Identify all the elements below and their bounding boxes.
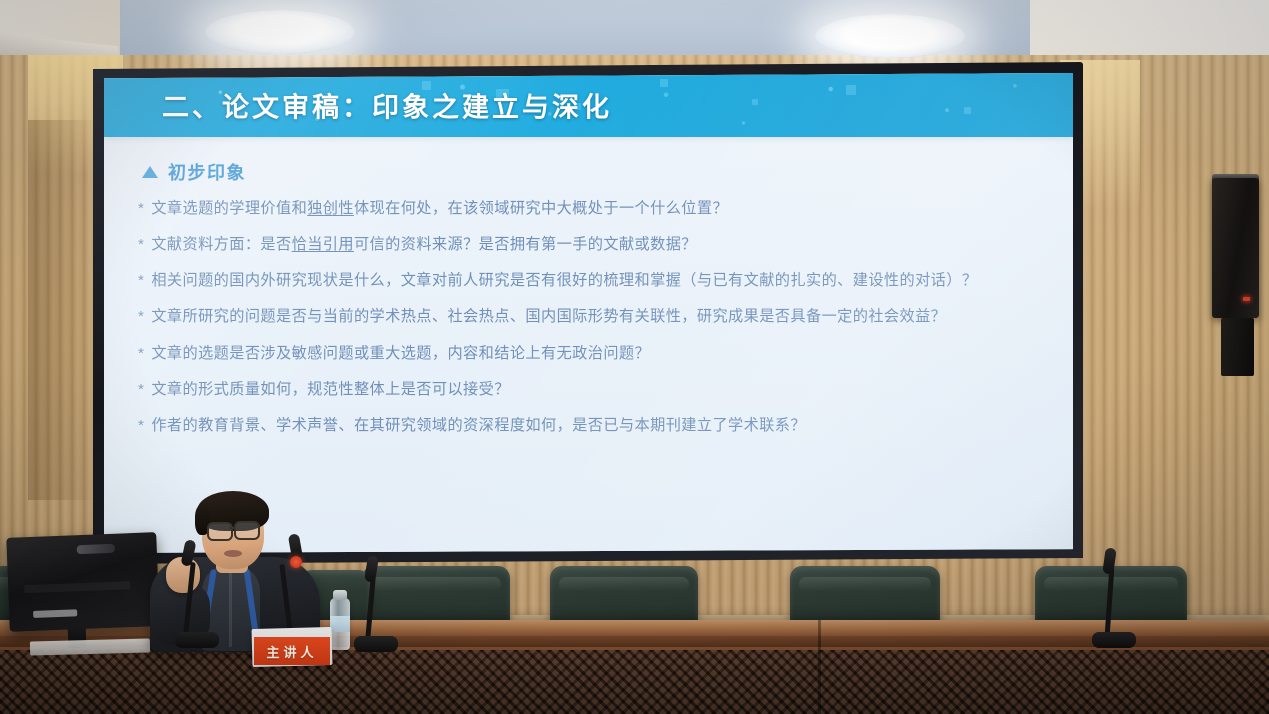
monitor-logo [77, 544, 115, 554]
bullet-emphasis: 恰当引用 [292, 236, 354, 253]
triangle-bullet-icon [142, 166, 158, 178]
desk-nameplate-face: 主讲人 [254, 637, 330, 665]
monitor-label [33, 609, 77, 618]
bullet-marker-icon: * [138, 268, 144, 294]
bullet-marker-icon: * [138, 413, 144, 439]
slide-body: 初步印象 *文章选题的学理价值和独创性体现在何处，在该领域研究中大概处于一个什么… [104, 137, 1073, 439]
bullet-text: 文章选题的学理价值和独创性体现在何处，在该领域研究中大概处于一个什么位置？ [151, 196, 1049, 222]
slide-title-banner: 二、论文审稿：印象之建立与深化 [104, 73, 1073, 137]
bullet-marker-icon: * [138, 196, 144, 222]
bullet-marker-icon: * [138, 304, 144, 330]
bullet-text: 作者的教育背景、学术声誉、在其研究领域的资深程度如何，是否已与本期刊建立了学术联… [151, 413, 1049, 439]
bullet-text: 文章的形式质量如何，规范性整体上是否可以接受？ [151, 377, 1049, 403]
bullet-emphasis: 独创性 [307, 200, 354, 217]
water-bottle-cap [333, 590, 347, 600]
section-heading-text: 初步印象 [168, 159, 246, 185]
speaker-power-led-icon [1243, 297, 1250, 301]
table-seam [818, 620, 821, 714]
presentation-display[interactable]: 二、论文审稿：印象之建立与深化 初步印象 *文章选题的学理价值和独创性体现在何处… [104, 73, 1073, 553]
slide-title: 二、论文审稿：印象之建立与深化 [162, 86, 612, 125]
ceiling-light-left [205, 10, 355, 54]
bullet-marker-icon: * [138, 232, 144, 258]
slide-bullet: *作者的教育背景、学术声誉、在其研究领域的资深程度如何，是否已与本期刊建立了学术… [138, 413, 1049, 439]
slide-section-heading: 初步印象 [142, 159, 1049, 185]
wall-speaker [1212, 178, 1259, 318]
water-bottle-label [330, 616, 350, 632]
presenter-mouth [224, 550, 242, 557]
slide-bullet: *文章选题的学理价值和独创性体现在何处，在该领域研究中大概处于一个什么位置？ [138, 196, 1049, 222]
slide-bullet-list: *文章选题的学理价值和独创性体现在何处，在该领域研究中大概处于一个什么位置？*文… [134, 196, 1049, 439]
nameplate-text: 主讲人 [266, 642, 317, 661]
slide: 二、论文审稿：印象之建立与深化 初步印象 *文章选题的学理价值和独创性体现在何处… [104, 73, 1073, 553]
ceiling-light-right [815, 14, 965, 58]
bullet-text: 文章所研究的问题是否与当前的学术热点、社会热点、国内国际形势有关联性，研究成果是… [151, 304, 1049, 330]
monitor-vent [24, 581, 130, 593]
slide-bullet: *文章所研究的问题是否与当前的学术热点、社会热点、国内国际形势有关联性，研究成果… [138, 304, 1049, 330]
eyeglasses-bridge [229, 527, 234, 529]
slide-bullet: *文章的选题是否涉及敏感问题或重大选题，内容和结论上有无政治问题？ [138, 341, 1049, 367]
bullet-text: 文章的选题是否涉及敏感问题或重大选题，内容和结论上有无政治问题？ [151, 341, 1049, 367]
bullet-text: 文献资料方面：是否恰当引用可信的资料来源？是否拥有第一手的文献或数据？ [151, 232, 1049, 258]
eyeglasses-left-lens [207, 522, 233, 541]
bullet-text: 相关问题的国内外研究现状是什么，文章对前人研究是否有很好的梳理和掌握（与已有文献… [151, 268, 1049, 294]
slide-bullet: *文献资料方面：是否恰当引用可信的资料来源？是否拥有第一手的文献或数据？ [138, 232, 1049, 258]
bullet-marker-icon: * [138, 341, 144, 367]
table-lattice-panel [0, 650, 1269, 714]
desktop-monitor-back [6, 532, 159, 632]
slide-bullet: *相关问题的国内外研究现状是什么，文章对前人研究是否有很好的梳理和掌握（与已有文… [138, 268, 1049, 294]
slide-bullet: *文章的形式质量如何，规范性整体上是否可以接受？ [138, 377, 1049, 403]
photo-scene: 二、论文审稿：印象之建立与深化 初步印象 *文章选题的学理价值和独创性体现在何处… [0, 0, 1269, 714]
presenter [150, 495, 320, 650]
wall-shadow-left [28, 120, 98, 500]
bullet-marker-icon: * [138, 377, 144, 403]
eyeglasses-right-lens [234, 521, 260, 540]
speaker-mount-bracket [1221, 318, 1254, 376]
